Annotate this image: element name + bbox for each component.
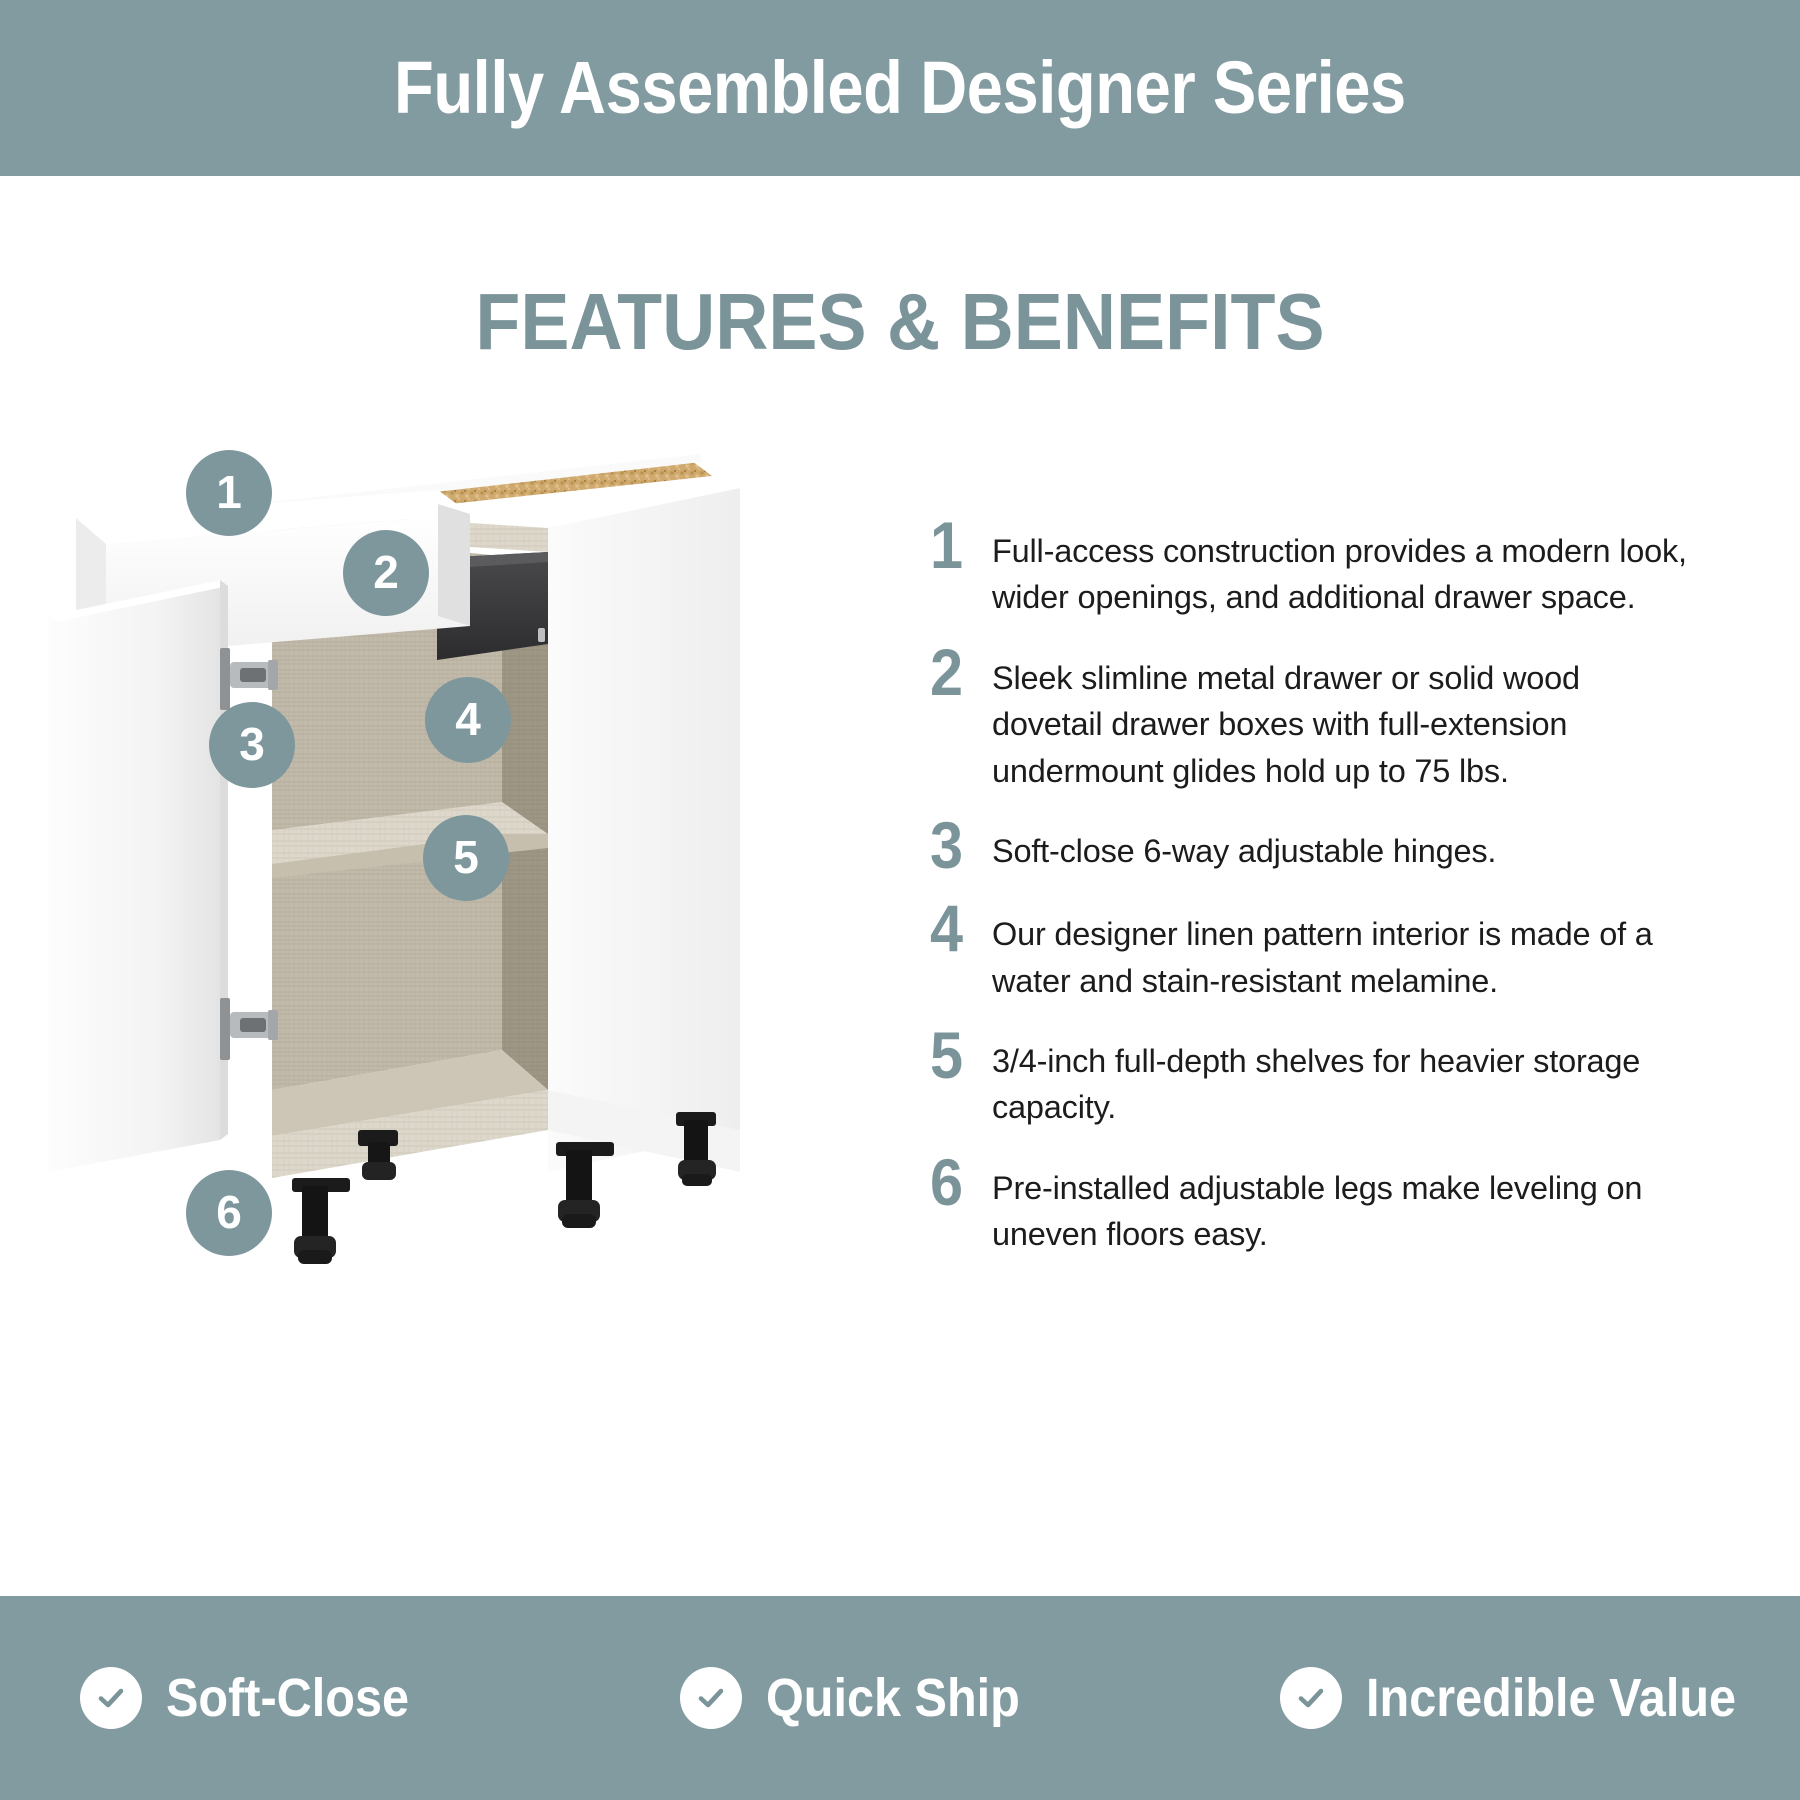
check-circle-icon: [680, 1667, 742, 1729]
callout-badge-6[interactable]: 6: [186, 1170, 272, 1256]
cabinet-side-panel: [548, 488, 740, 1172]
feature-description: Full-access construction provides a mode…: [992, 520, 1690, 621]
feature-description: Soft-close 6-way adjustable hinges.: [992, 820, 1690, 874]
header-bar: Fully Assembled Designer Series: [0, 0, 1800, 176]
callout-badge-3-label: 3: [239, 721, 265, 767]
footer-label: Quick Ship: [766, 1671, 1020, 1725]
feature-item: 1 Full-access construction provides a mo…: [930, 520, 1690, 621]
feature-number: 3: [930, 814, 986, 877]
callout-badge-2[interactable]: 2: [343, 530, 429, 616]
footer-badge-soft-close: Soft-Close: [0, 1667, 600, 1729]
footer-label: Soft-Close: [166, 1671, 409, 1725]
leg-front-right: [556, 1142, 614, 1228]
feature-description: Sleek slimline metal drawer or solid woo…: [992, 647, 1690, 794]
callout-badge-3[interactable]: 3: [209, 702, 295, 788]
callout-badge-1[interactable]: 1: [186, 450, 272, 536]
feature-item: 2 Sleek slimline metal drawer or solid w…: [930, 647, 1690, 794]
callout-badge-6-label: 6: [216, 1189, 242, 1235]
page-title: Fully Assembled Designer Series: [394, 51, 1406, 125]
callout-badge-4[interactable]: 4: [425, 677, 511, 763]
feature-number: 4: [930, 897, 986, 960]
features-list: 1 Full-access construction provides a mo…: [930, 520, 1690, 1284]
feature-item: 5 3/4-inch full-depth shelves for heavie…: [930, 1030, 1690, 1131]
feature-number: 6: [930, 1151, 986, 1214]
check-circle-icon: [80, 1667, 142, 1729]
feature-number: 2: [930, 641, 986, 704]
footer-badge-incredible-value: Incredible Value: [1200, 1667, 1800, 1729]
infographic-page: Fully Assembled Designer Series FEATURES…: [0, 0, 1800, 1800]
feature-number: 5: [930, 1024, 986, 1087]
feature-item: 3 Soft-close 6-way adjustable hinges.: [930, 820, 1690, 877]
footer-badge-quick-ship: Quick Ship: [600, 1667, 1200, 1729]
feature-description: 3/4-inch full-depth shelves for heavier …: [992, 1030, 1690, 1131]
door-hinge-lower: [220, 998, 278, 1060]
section-title: FEATURES & BENEFITS: [72, 282, 1728, 362]
cabinet-door: [48, 580, 228, 1172]
callout-badge-2-label: 2: [373, 549, 399, 595]
feature-item: 6 Pre-installed adjustable legs make lev…: [930, 1157, 1690, 1258]
feature-description: Pre-installed adjustable legs make level…: [992, 1157, 1690, 1258]
door-hinge-upper: [220, 648, 278, 710]
callout-badge-1-label: 1: [216, 469, 242, 515]
footer-bar: Soft-Close Quick Ship Incredible Value: [0, 1596, 1800, 1800]
check-circle-icon: [1280, 1667, 1342, 1729]
feature-item: 4 Our designer linen pattern interior is…: [930, 903, 1690, 1004]
feature-description: Our designer linen pattern interior is m…: [992, 903, 1690, 1004]
leg-front-left: [292, 1178, 350, 1264]
callout-badge-5[interactable]: 5: [423, 815, 509, 901]
callout-badge-5-label: 5: [453, 834, 479, 880]
callout-badge-4-label: 4: [455, 696, 481, 742]
feature-number: 1: [930, 514, 986, 577]
footer-label: Incredible Value: [1366, 1671, 1736, 1725]
